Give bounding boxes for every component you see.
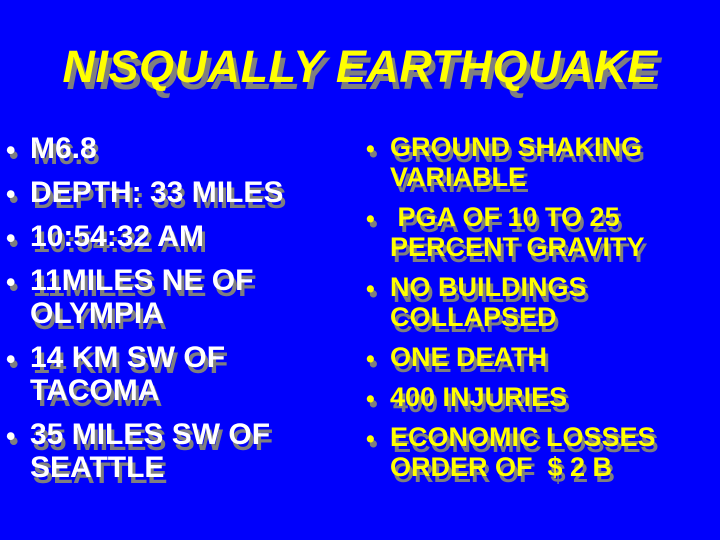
list-item[interactable]: • ECONOMIC LOSSES ORDER OF $ 2 B — [366, 422, 716, 482]
list-item[interactable]: • GROUND SHAKING VARIABLE — [366, 132, 716, 192]
list-item[interactable]: • NO BUILDINGS COLLAPSED — [366, 272, 716, 332]
bullet-point-icon: • — [6, 220, 30, 252]
bullet-point-icon: • — [6, 176, 30, 208]
bullet-point-icon: • — [6, 341, 30, 373]
bullet-point-icon: • — [366, 422, 390, 452]
list-item[interactable]: • DEPTH: 33 MILES — [6, 176, 358, 209]
list-item-label: 11MILES NE OF OLYMPIA — [30, 264, 358, 330]
list-item-label: GROUND SHAKING VARIABLE — [390, 132, 716, 192]
presentation-slide: NISQUALLY EARTHQUAKE • M6.8 • DEPTH: 33 … — [0, 0, 720, 540]
bullet-point-icon: • — [366, 382, 390, 412]
list-item-label: 14 KM SW OF TACOMA — [30, 341, 358, 407]
bullet-point-icon: • — [366, 202, 390, 232]
bullet-point-icon: • — [366, 342, 390, 372]
list-item-label: PGA OF 10 TO 25 PERCENT GRAVITY — [390, 202, 716, 262]
list-item-label: ECONOMIC LOSSES ORDER OF $ 2 B — [390, 422, 716, 482]
bullet-point-icon: • — [6, 132, 30, 164]
list-item-label: NO BUILDINGS COLLAPSED — [390, 272, 716, 332]
list-item[interactable]: • 35 MILES SW OF SEATTLE — [6, 418, 358, 484]
bullet-point-icon: • — [6, 264, 30, 296]
bullet-point-icon: • — [366, 132, 390, 162]
list-item-label: 10:54:32 AM — [30, 220, 358, 253]
bullet-column-left: • M6.8 • DEPTH: 33 MILES • 10:54:32 AM •… — [6, 132, 358, 495]
bullet-point-icon: • — [6, 418, 30, 450]
list-item[interactable]: • 11MILES NE OF OLYMPIA — [6, 264, 358, 330]
list-item-label: 400 INJURIES — [390, 382, 716, 412]
list-item-label: M6.8 — [30, 132, 358, 165]
list-item[interactable]: • M6.8 — [6, 132, 358, 165]
list-item-label: DEPTH: 33 MILES — [30, 176, 358, 209]
list-item-label: ONE DEATH — [390, 342, 716, 372]
bullet-column-right: • GROUND SHAKING VARIABLE • PGA OF 10 TO… — [366, 132, 716, 492]
list-item[interactable]: • PGA OF 10 TO 25 PERCENT GRAVITY — [366, 202, 716, 262]
list-item[interactable]: • ONE DEATH — [366, 342, 716, 372]
list-item[interactable]: • 14 KM SW OF TACOMA — [6, 341, 358, 407]
list-item[interactable]: • 10:54:32 AM — [6, 220, 358, 253]
list-item[interactable]: • 400 INJURIES — [366, 382, 716, 412]
bullet-point-icon: • — [366, 272, 390, 302]
list-item-label: 35 MILES SW OF SEATTLE — [30, 418, 358, 484]
slide-title: NISQUALLY EARTHQUAKE — [0, 42, 720, 92]
